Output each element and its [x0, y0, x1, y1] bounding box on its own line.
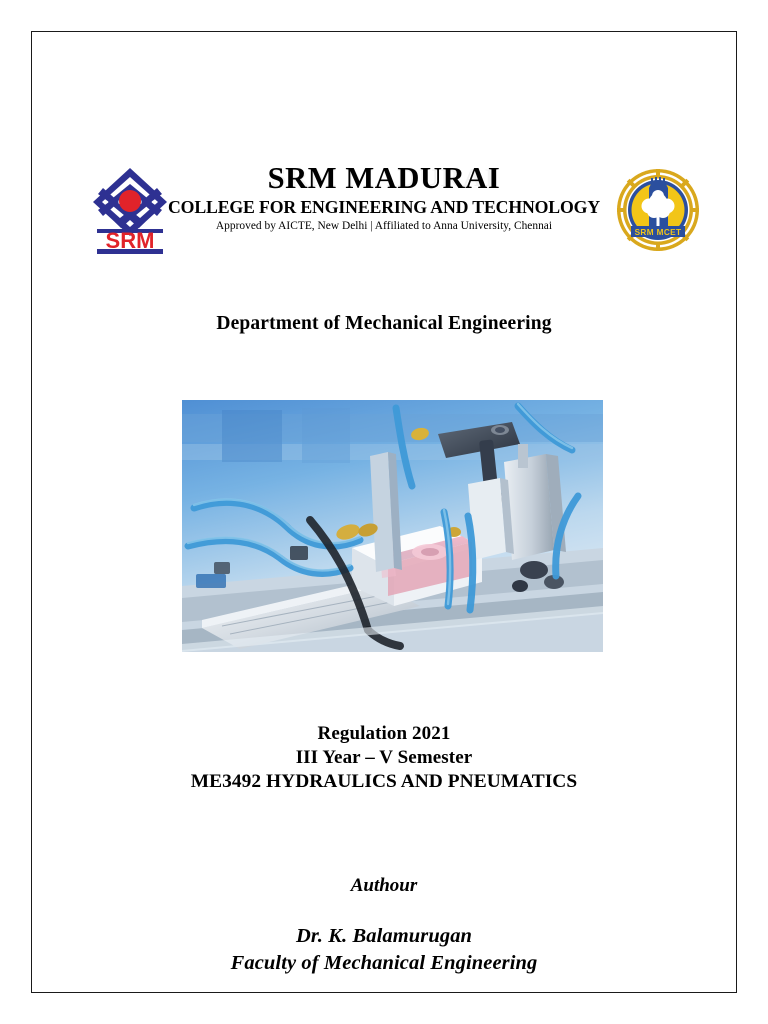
seal-ribbon-text: SRM MCET	[635, 228, 682, 237]
letterhead-text: SRM MADURAI SRM MADURAI COLLEGE FOR ENGI…	[159, 162, 609, 232]
institution-approval: Approved by AICTE, New Delhi | Affiliate…	[159, 220, 609, 232]
year-semester-line: III Year – V Semester	[32, 746, 736, 770]
cover-page-sheet: SRM SRM MADURAI SRM MADURAI COLLEGE FOR …	[31, 31, 737, 993]
letterhead: SRM SRM MADURAI SRM MADURAI COLLEGE FOR …	[32, 162, 736, 262]
page-content: SRM SRM MADURAI SRM MADURAI COLLEGE FOR …	[32, 32, 736, 992]
author-block: Dr. K. Balamurugan Faculty of Mechanical…	[32, 923, 736, 976]
institution-subtitle: COLLEGE FOR ENGINEERING AND TECHNOLOGY	[167, 197, 601, 218]
institution-title: SRM MADURAI	[159, 162, 609, 195]
author-designation: Faculty of Mechanical Engineering	[32, 950, 736, 977]
pneumatics-photo	[182, 400, 603, 652]
regulation-line: Regulation 2021	[32, 722, 736, 746]
author-label: Authour	[32, 875, 736, 897]
author-name: Dr. K. Balamurugan	[32, 923, 736, 950]
department-title: Department of Mechanical Engineering	[32, 313, 736, 335]
srm-wordmark: SRM	[106, 228, 155, 253]
course-block: Regulation 2021 III Year – V Semester ME…	[32, 722, 736, 794]
course-code-title: ME3492 HYDRAULICS AND PNEUMATICS	[32, 770, 736, 794]
srm-mcet-seal: SRM MCET	[616, 166, 700, 254]
